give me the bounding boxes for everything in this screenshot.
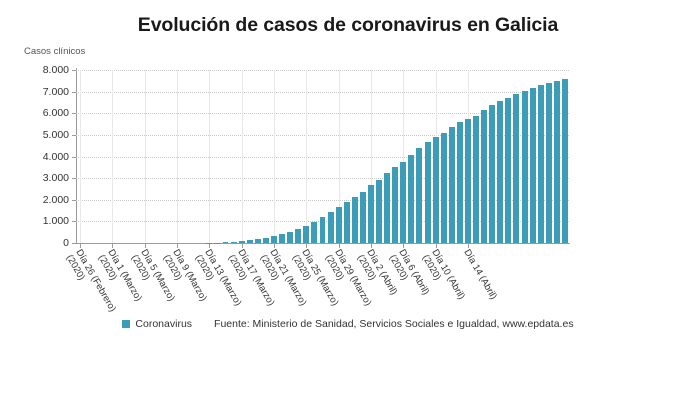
bar[interactable] bbox=[287, 232, 293, 243]
bar[interactable] bbox=[328, 212, 334, 243]
bar[interactable] bbox=[505, 98, 511, 243]
y-axis-tick-label: 4.000 bbox=[43, 151, 69, 163]
bar[interactable] bbox=[311, 222, 317, 243]
bar[interactable] bbox=[400, 162, 406, 243]
bar[interactable] bbox=[384, 173, 390, 243]
bar[interactable] bbox=[481, 110, 487, 243]
bar[interactable] bbox=[263, 238, 269, 243]
bar[interactable] bbox=[247, 240, 253, 243]
bar[interactable] bbox=[497, 101, 503, 243]
bar[interactable] bbox=[376, 180, 382, 243]
x-axis-tick-label: Día 14 (Abril) bbox=[461, 248, 498, 302]
bar[interactable] bbox=[457, 122, 463, 243]
bar[interactable] bbox=[441, 133, 447, 243]
legend-swatch-icon bbox=[122, 320, 130, 328]
y-axis-tick-label: 0 bbox=[63, 237, 69, 249]
bar[interactable] bbox=[546, 83, 552, 243]
chart-footer: Coronavirus Fuente: Ministerio de Sanida… bbox=[0, 318, 696, 330]
bar[interactable] bbox=[368, 185, 374, 243]
x-axis-ticks: Día 26 (Febrero)(2020)Día 1 (Marzo)(2020… bbox=[76, 244, 570, 314]
y-axis-tick-label: 1.000 bbox=[43, 215, 69, 227]
x-axis-tick-label: Día 10 (Abril)(2020) bbox=[419, 248, 465, 307]
bar-series-coronavirus bbox=[76, 70, 569, 243]
bar[interactable] bbox=[279, 234, 285, 243]
y-axis-tick-label: 5.000 bbox=[43, 129, 69, 141]
bar[interactable] bbox=[408, 155, 414, 243]
bar[interactable] bbox=[271, 236, 277, 243]
bar[interactable] bbox=[449, 127, 455, 243]
bar[interactable] bbox=[239, 241, 245, 243]
chart-container: Evolución de casos de coronavirus en Gal… bbox=[0, 0, 696, 409]
source-note: Fuente: Ministerio de Sanidad, Servicios… bbox=[214, 318, 574, 330]
bar[interactable] bbox=[530, 88, 536, 243]
bar[interactable] bbox=[433, 137, 439, 243]
bar[interactable] bbox=[562, 79, 568, 243]
legend-label: Coronavirus bbox=[135, 318, 192, 330]
bar[interactable] bbox=[231, 242, 237, 244]
bar[interactable] bbox=[352, 197, 358, 243]
bar[interactable] bbox=[538, 85, 544, 243]
plot-area: 01.0002.0003.0004.0005.0006.0007.0008.00… bbox=[76, 70, 569, 243]
bar[interactable] bbox=[303, 226, 309, 243]
bar[interactable] bbox=[489, 105, 495, 243]
bar[interactable] bbox=[223, 242, 229, 243]
bar[interactable] bbox=[425, 142, 431, 243]
bar[interactable] bbox=[320, 217, 326, 243]
bar[interactable] bbox=[336, 207, 342, 243]
page-title: Evolución de casos de coronavirus en Gal… bbox=[0, 14, 696, 37]
bar[interactable] bbox=[465, 119, 471, 243]
bar[interactable] bbox=[392, 167, 398, 243]
y-axis-tick-label: 6.000 bbox=[43, 107, 69, 119]
bar[interactable] bbox=[344, 202, 350, 243]
bar[interactable] bbox=[522, 91, 528, 243]
y-axis-tick-label: 3.000 bbox=[43, 172, 69, 184]
bar[interactable] bbox=[295, 229, 301, 243]
y-axis-tick-label: 2.000 bbox=[43, 194, 69, 206]
y-axis-tick-label: 8.000 bbox=[43, 64, 69, 76]
bar[interactable] bbox=[255, 239, 261, 243]
bar[interactable] bbox=[473, 116, 479, 243]
bar[interactable] bbox=[554, 81, 560, 243]
bar[interactable] bbox=[513, 94, 519, 243]
bar[interactable] bbox=[416, 148, 422, 243]
bar[interactable] bbox=[360, 192, 366, 243]
y-axis-caption: Casos clínicos bbox=[24, 46, 85, 57]
legend-item-coronavirus[interactable]: Coronavirus bbox=[122, 318, 192, 330]
y-axis-tick-label: 7.000 bbox=[43, 86, 69, 98]
